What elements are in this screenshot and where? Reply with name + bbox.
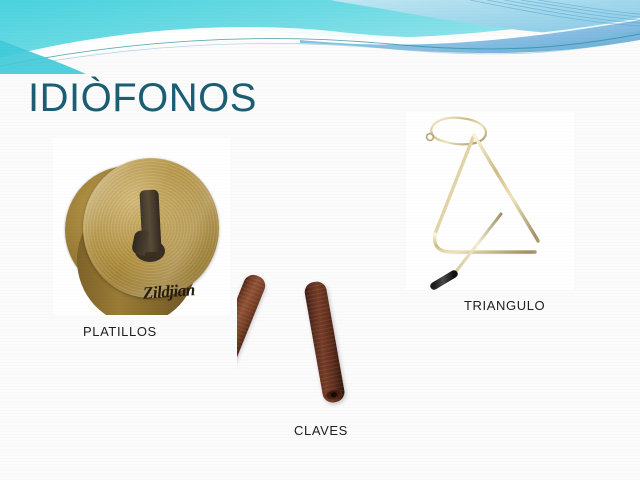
- cymbals-image: Zildjian: [53, 138, 230, 315]
- figure-triangulo: TRIANGULO: [406, 112, 574, 290]
- caption-claves: CLAVES: [294, 423, 348, 438]
- page-title: IDIÒFONOS: [28, 76, 257, 121]
- clave-wood-grain: [303, 280, 346, 404]
- right-clave-stick: [303, 280, 346, 404]
- claves-image: [237, 268, 387, 408]
- triangle-loop-ring: [427, 134, 434, 141]
- left-clave-stick: [237, 272, 268, 393]
- beater-rod: [454, 214, 501, 274]
- caption-triangulo: TRIANGULO: [464, 298, 545, 313]
- cymbal-leather-strap: [139, 190, 161, 253]
- cymbal-brand-logo: Zildjian: [142, 280, 195, 304]
- clave-wood-grain: [237, 272, 268, 393]
- front-cymbal: Zildjian: [83, 158, 219, 298]
- figure-platillos: Zildjian PLATILLOS: [53, 138, 230, 315]
- caption-platillos: PLATILLOS: [83, 324, 157, 339]
- slide-canvas: IDIÒFONOS Zildjian PLATILLOS: [0, 0, 640, 480]
- triangle-bar-tips: [533, 239, 538, 252]
- header-swoosh-decoration: [0, 0, 640, 80]
- beater-handle: [434, 274, 454, 286]
- figure-claves: CLAVES: [237, 268, 387, 408]
- triangle-image: [406, 112, 574, 290]
